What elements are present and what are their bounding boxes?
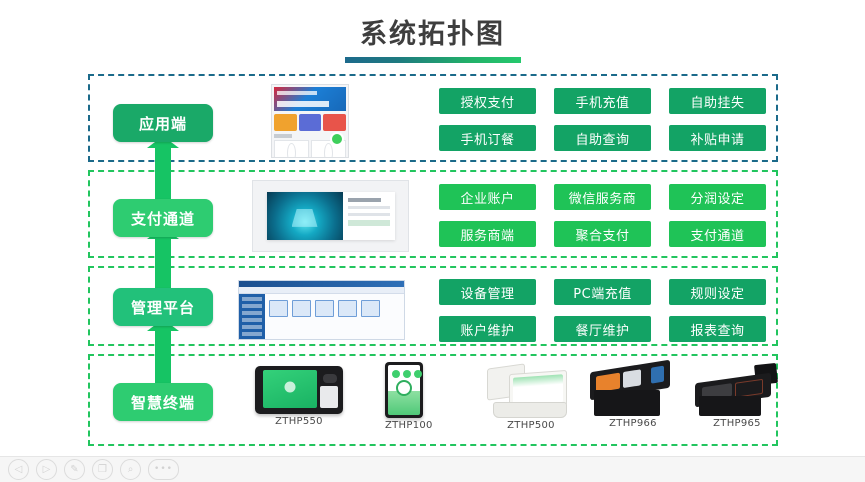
console-tile	[315, 300, 334, 317]
feature-grid-management: 设备管理 PC端充值 规则设定 账户维护 餐厅维护 报表查询	[439, 279, 766, 342]
app-section-tag	[274, 134, 292, 138]
next-icon[interactable]: ▷	[36, 459, 57, 480]
feature-button[interactable]: 服务商端	[439, 221, 536, 247]
sidebar-entry	[242, 311, 262, 315]
console-tile-row	[269, 300, 400, 317]
panel-payment-terminal-icon	[695, 364, 779, 416]
avatar	[287, 143, 296, 158]
sidebar-entry	[242, 297, 262, 301]
mobile-app-screenshot	[271, 84, 349, 158]
banner-search-field	[277, 101, 329, 107]
sidebar-entry	[242, 304, 262, 308]
device-zthp966[interactable]: ZTHP966	[590, 366, 676, 429]
quick-action-card-2	[299, 114, 322, 131]
feature-button[interactable]: 手机订餐	[439, 125, 536, 151]
feature-button[interactable]: 规则设定	[669, 279, 766, 305]
feature-button[interactable]: 设备管理	[439, 279, 536, 305]
dual-screen-pos-terminal-icon	[485, 364, 577, 418]
console-tile	[361, 300, 380, 317]
edit-icon[interactable]: ✎	[64, 459, 85, 480]
console-toolbar	[239, 287, 404, 294]
login-form	[343, 192, 395, 240]
device-zthp100[interactable]: ZTHP100	[385, 362, 433, 431]
camera-module	[323, 374, 337, 383]
flow-arrow-management-to-payment	[155, 238, 171, 290]
previous-icon[interactable]: ◁	[8, 459, 29, 480]
screen-center-badge	[396, 380, 412, 396]
card-reader-pad	[320, 386, 338, 408]
title-underline-gradient	[345, 57, 521, 63]
console-tile	[269, 300, 288, 317]
console-content	[265, 294, 404, 340]
feature-button[interactable]: 报表查询	[669, 316, 766, 342]
copy-icon[interactable]: ❐	[92, 459, 113, 480]
screen-region	[735, 379, 763, 398]
feature-button[interactable]: 餐厅维护	[554, 316, 651, 342]
device-base	[493, 402, 567, 418]
device-label: ZTHP500	[485, 420, 577, 431]
tablet-terminal-icon	[385, 362, 423, 418]
login-card	[267, 192, 395, 240]
app-quick-actions	[274, 114, 346, 131]
screen-tile-light	[623, 369, 641, 388]
bottom-toolbar: ◁ ▷ ✎ ❐ ⌕ •••	[0, 456, 865, 482]
console-body	[239, 294, 404, 340]
feature-button[interactable]: 账户维护	[439, 316, 536, 342]
admin-console-screenshot	[238, 280, 405, 340]
sidebar-entry	[242, 325, 262, 329]
app-list-item-1	[274, 140, 309, 158]
banner-line-1	[277, 91, 317, 95]
sidebar-entry	[242, 318, 262, 322]
login-page-screenshot	[252, 180, 409, 252]
more-options-icon[interactable]: •••	[148, 459, 179, 480]
feature-button[interactable]: 支付通道	[669, 221, 766, 247]
login-title	[348, 198, 382, 202]
stage-label-management[interactable]: 管理平台	[113, 288, 213, 326]
screen-icons	[392, 370, 422, 378]
page-header: 系统拓扑图	[0, 18, 865, 63]
device-zthp500[interactable]: ZTHP500	[485, 364, 577, 431]
device-screen	[388, 365, 420, 415]
stage-label-terminal[interactable]: 智慧终端	[113, 383, 213, 421]
device-label: ZTHP100	[385, 420, 433, 431]
zoom-icon[interactable]: ⌕	[120, 459, 141, 480]
app-banner	[274, 87, 346, 111]
console-sidebar	[239, 294, 265, 340]
feature-button[interactable]: 手机充值	[554, 88, 651, 114]
stage-label-application[interactable]: 应用端	[113, 104, 213, 142]
login-password-field	[348, 213, 390, 216]
feature-button[interactable]: 自助挂失	[669, 88, 766, 114]
login-submit-button	[348, 220, 390, 226]
quick-action-card-1	[274, 114, 297, 131]
screen-icon	[414, 370, 422, 378]
device-base	[594, 390, 660, 416]
feature-grid-payment: 企业账户 微信服务商 分润设定 服务商端 聚合支付 支付通道	[439, 184, 766, 247]
device-label: ZTHP966	[590, 418, 676, 429]
flow-arrow-payment-to-application	[155, 147, 171, 201]
device-screen	[263, 370, 317, 408]
login-username-field	[348, 206, 390, 209]
device-zthp550[interactable]: ZTHP550	[255, 366, 343, 427]
device-row: ZTHP550 ZTHP100 ZTHP500	[245, 362, 765, 442]
feature-button[interactable]: 微信服务商	[554, 184, 651, 210]
device-zthp965[interactable]: ZTHP965	[695, 364, 779, 429]
feature-button[interactable]: 聚合支付	[554, 221, 651, 247]
feature-button[interactable]: 分润设定	[669, 184, 766, 210]
face-recognition-terminal-icon	[255, 366, 343, 414]
sidebar-entry	[242, 332, 262, 336]
device-base	[699, 396, 761, 416]
page-title: 系统拓扑图	[0, 18, 865, 52]
screen-tile-blue	[651, 366, 664, 384]
console-tile	[338, 300, 357, 317]
stage-label-payment[interactable]: 支付通道	[113, 199, 213, 237]
desktop-payment-terminal-icon	[590, 366, 676, 416]
feature-button[interactable]: 自助查询	[554, 125, 651, 151]
floating-action-button	[330, 132, 344, 146]
feature-button[interactable]: PC端充值	[554, 279, 651, 305]
feature-button[interactable]: 授权支付	[439, 88, 536, 114]
feature-grid-application: 授权支付 手机充值 自助挂失 手机订餐 自助查询 补贴申请	[439, 88, 766, 151]
device-label: ZTHP965	[695, 418, 779, 429]
screen-icon	[392, 370, 400, 378]
login-hero-graphic	[267, 192, 343, 240]
device-label: ZTHP550	[255, 416, 343, 427]
feature-button[interactable]: 补贴申请	[669, 125, 766, 151]
feature-button[interactable]: 企业账户	[439, 184, 536, 210]
quick-action-card-3	[323, 114, 346, 131]
console-tile	[292, 300, 311, 317]
avatar	[324, 143, 333, 158]
screen-icon	[403, 370, 411, 378]
flow-arrow-terminal-to-management	[155, 330, 171, 385]
